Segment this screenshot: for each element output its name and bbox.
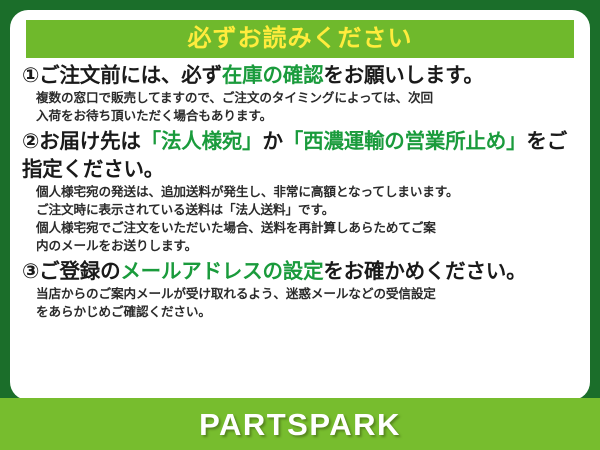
notice-item-3-heading-pre: ご登録の — [39, 260, 120, 283]
notice-item-1-marker: ① — [22, 64, 39, 87]
notice-item-1-heading-post: をお願いします。 — [323, 64, 483, 87]
notice-item-2-sub: 個人様宅宛の発送は、追加送料が発生し、非常に高額となってしまいます。 ご注文時に… — [36, 184, 578, 256]
notice-item-2-heading: ②お届け先は「法人様宛」か「西濃運輸の営業所止め」をご指定ください。 — [22, 128, 578, 183]
notice-item-2-heading-highlight: 「法人様宛」 — [141, 130, 263, 153]
notice-item-2-heading-mid: か — [262, 130, 282, 153]
notice-item-2-heading-highlight2: 「西濃運輸の営業所止め」 — [283, 130, 527, 153]
notice-item-2-heading-pre: お届け先は — [39, 130, 141, 153]
notice-item-3-heading: ③ご登録のメールアドレスの設定をお確かめください。 — [22, 258, 578, 285]
notice-item-1: ①ご注文前には、必ず在庫の確認をお願いします。 複数の窓口で販売してますので、ご… — [22, 62, 578, 126]
notice-title-band: 必ずお読みください — [26, 20, 574, 58]
notice-item-1-heading-pre: ご注文前には、必ず — [39, 64, 222, 87]
notice-item-3-sub: 当店からのご案内メールが受け取れるよう、迷惑メールなどの受信設定 をあらかじめご… — [36, 286, 578, 322]
notice-item-1-sub: 複数の窓口で販売してますので、ご注文のタイミングによっては、次回 入荷をお待ち頂… — [36, 90, 578, 126]
footer-band: PARTSPARK — [0, 398, 600, 450]
brand-logo: PARTSPARK — [199, 409, 401, 440]
notice-body: ①ご注文前には、必ず在庫の確認をお願いします。 複数の窓口で販売してますので、ご… — [10, 62, 590, 324]
notice-item-2: ②お届け先は「法人様宛」か「西濃運輸の営業所止め」をご指定ください。 個人様宅宛… — [22, 128, 578, 255]
notice-panel: 必ずお読みください ①ご注文前には、必ず在庫の確認をお願いします。 複数の窓口で… — [10, 10, 590, 400]
notice-item-1-heading-highlight: 在庫の確認 — [222, 64, 324, 87]
notice-item-3-heading-highlight: メールアドレスの設定 — [120, 260, 323, 283]
notice-title: 必ずお読みください — [188, 27, 413, 51]
notice-item-3-heading-post: をお確かめください。 — [323, 260, 526, 283]
notice-item-3-marker: ③ — [22, 260, 39, 283]
notice-item-3: ③ご登録のメールアドレスの設定をお確かめください。 当店からのご案内メールが受け… — [22, 258, 578, 322]
notice-item-1-heading: ①ご注文前には、必ず在庫の確認をお願いします。 — [22, 62, 578, 89]
notice-item-2-marker: ② — [22, 130, 39, 153]
notice-card: 必ずお読みください ①ご注文前には、必ず在庫の確認をお願いします。 複数の窓口で… — [0, 0, 600, 450]
